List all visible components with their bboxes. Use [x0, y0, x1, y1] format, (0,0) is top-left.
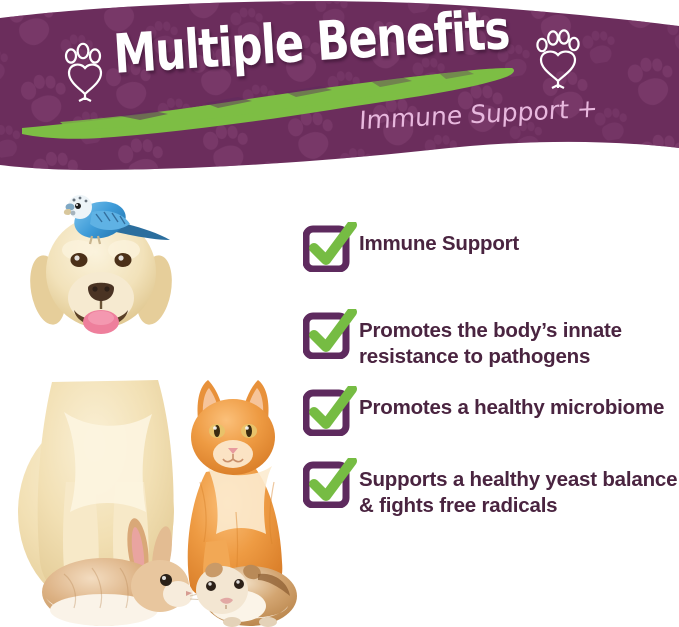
list-item: Promotes a healthy microbiome [303, 386, 679, 436]
banner-subtitle: Immune Support + [358, 94, 598, 136]
list-item: Immune Support [303, 222, 679, 272]
benefits-list: Immune Support Promotes the body’s innat… [303, 222, 679, 539]
checkbox-checked-icon [303, 309, 359, 359]
list-item-label: Immune Support [359, 222, 679, 257]
page-title: Multiple Benefits [112, 3, 511, 82]
list-item-label: Promotes a healthy microbiome [359, 386, 679, 421]
list-item: Promotes the body’s innate resistance to… [303, 309, 679, 370]
checkbox-checked-icon [303, 458, 359, 508]
list-item-label: Supports a healthy yeast balance & fight… [359, 458, 679, 519]
header-banner: Multiple Benefits Immune Support + [0, 0, 679, 185]
golden-retriever-dog [18, 216, 177, 608]
checkbox-checked-icon [303, 386, 359, 436]
pets-photo [0, 182, 300, 627]
list-item-label: Promotes the body’s innate resistance to… [359, 309, 679, 370]
checkbox-checked-icon [303, 222, 359, 272]
heart-paw-icon [62, 42, 108, 102]
list-item: Supports a healthy yeast balance & fight… [303, 458, 679, 519]
heart-paw-icon [534, 28, 582, 90]
